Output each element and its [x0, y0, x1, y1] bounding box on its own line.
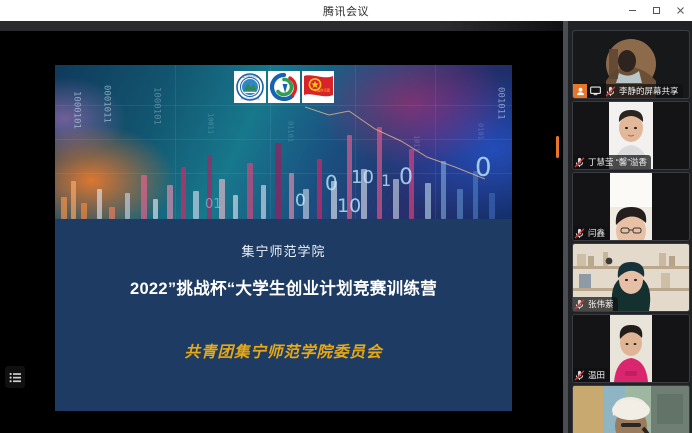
- participant-name: 张伟萦: [588, 300, 614, 309]
- mic-muted-icon: [573, 156, 586, 169]
- participant-tile[interactable]: 李静的屏幕共享: [572, 30, 690, 99]
- participant-tile[interactable]: 温田: [572, 314, 690, 383]
- mic-muted-icon: [573, 298, 586, 311]
- participant-video: [573, 386, 689, 433]
- participant-nametag: 闫鑫: [573, 226, 609, 240]
- participant-tile[interactable]: 闫鑫: [572, 172, 690, 241]
- slide-banner-image: 1000101 0001011 1000101 10011 01101 1011…: [55, 65, 512, 219]
- slide-sub-title: 共青团集宁师范学院委员会: [55, 340, 512, 362]
- stage-top-strip: [0, 21, 568, 31]
- slide-logo-group: 集宁师范学院 JINING COLLEGE: [234, 71, 334, 103]
- list-icon[interactable]: [5, 366, 25, 388]
- slide-main-title: 2022”挑战杯“大学生创业计划竞赛训练营: [55, 275, 512, 299]
- participant-video-rail[interactable]: 李静的屏幕共享 丁慧莹 “: [568, 21, 692, 433]
- youth-league-flag-logo: 中国共青团: [302, 71, 334, 103]
- shared-screen-stage: 1000101 0001011 1000101 10011 01101 1011…: [0, 21, 568, 433]
- challenge-cup-logo: [268, 71, 300, 103]
- participant-nametag: 李静的屏幕共享: [573, 84, 683, 98]
- participant-name: 丁慧莹 “馨”溢香: [588, 158, 647, 167]
- shared-presentation-slide: 1000101 0001011 1000101 10011 01101 1011…: [55, 65, 512, 411]
- participant-name: 闫鑫: [588, 229, 605, 238]
- slide-text-body: 集宁师范学院 2022”挑战杯“大学生创业计划竞赛训练营 共青团集宁师范学院委员…: [55, 219, 512, 411]
- mic-muted-icon: [604, 85, 617, 98]
- participant-tile[interactable]: 丁慧莹 “馨”溢香: [572, 101, 690, 170]
- participant-tile[interactable]: 张伟萦: [572, 243, 690, 312]
- tencent-meeting-window: 腾讯会议 1000101 0001011 1000101 10011: [0, 0, 692, 433]
- minimize-button[interactable]: [620, 0, 644, 21]
- participant-nametag: 丁慧莹 “馨”溢香: [573, 155, 651, 169]
- screen-share-icon: [589, 85, 602, 98]
- window-controls: [620, 0, 692, 21]
- maximize-button[interactable]: [644, 0, 668, 21]
- window-title: 腾讯会议: [323, 3, 369, 19]
- slide-org-name: 集宁师范学院: [55, 241, 512, 260]
- mic-muted-icon: [573, 227, 586, 240]
- svg-text:集宁师范学院: 集宁师范学院: [242, 75, 258, 79]
- participant-name: 温田: [588, 371, 605, 380]
- screen-share-border-indicator: [556, 136, 559, 158]
- participant-name: 李静的屏幕共享: [619, 87, 679, 96]
- mic-muted-icon: [573, 369, 586, 382]
- svg-text:JINING COLLEGE: JINING COLLEGE: [240, 99, 259, 101]
- host-icon: [573, 84, 587, 98]
- participant-tile[interactable]: [572, 385, 690, 433]
- participant-nametag: 张伟萦: [573, 297, 618, 311]
- window-titlebar: 腾讯会议: [0, 0, 692, 22]
- participant-nametag: 温田: [573, 368, 609, 382]
- svg-text:中国共青团: 中国共青团: [314, 88, 330, 93]
- close-button[interactable]: [668, 0, 692, 21]
- university-seal-logo: 集宁师范学院 JINING COLLEGE: [234, 71, 266, 103]
